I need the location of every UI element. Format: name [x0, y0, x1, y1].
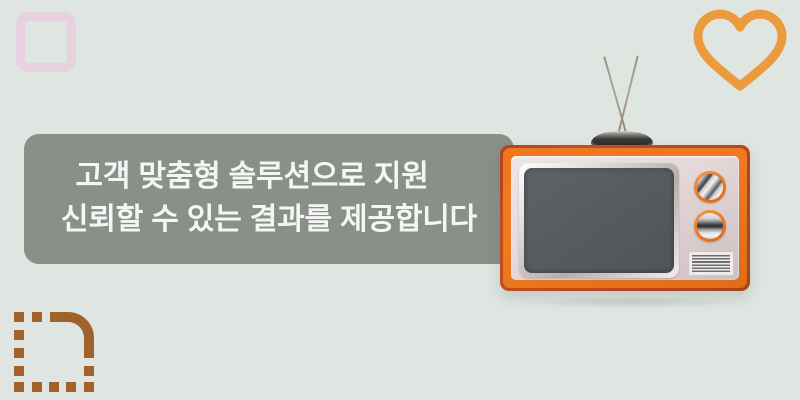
- volume-knob-dial: [697, 213, 723, 239]
- tuner-knob-dial: [697, 174, 723, 200]
- speaker-grille: [688, 251, 734, 276]
- volume-knob: [694, 210, 726, 242]
- tuner-knob: [694, 171, 726, 203]
- tv-ground-shadow: [520, 296, 740, 308]
- tv-cabinet: [500, 145, 750, 291]
- caption-panel: [24, 134, 514, 264]
- tv-screen-bezel: [519, 163, 679, 278]
- dashed-square-corner-icon: [14, 312, 94, 392]
- retro-television-illustration: [495, 45, 755, 295]
- tv-front-panel: [511, 156, 739, 280]
- tv-orange-frame: [503, 148, 747, 288]
- banner-canvas: 고객 맞춤형 솔루션으로 지원 신뢰할 수 있는 결과를 제공합니다: [0, 0, 800, 400]
- rounded-square-outline-icon: [16, 12, 76, 72]
- speaker-grille-lines: [692, 255, 730, 272]
- tv-screen: [524, 168, 674, 273]
- tv-antenna: [495, 45, 755, 150]
